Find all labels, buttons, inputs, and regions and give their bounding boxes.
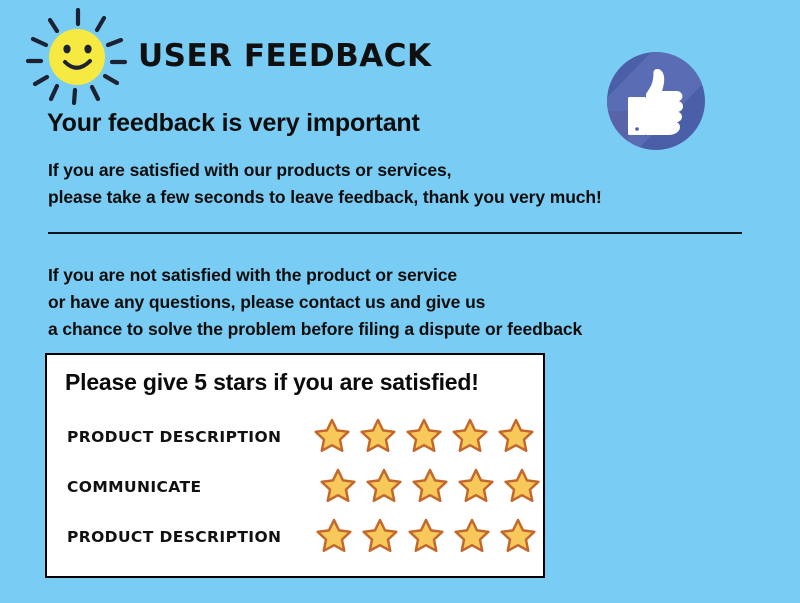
star-icon[interactable] — [457, 467, 495, 505]
satisfied-line-2: please take a few seconds to leave feedb… — [48, 184, 602, 211]
feedback-banner: USER FEEDBACK Your feedback is very impo… — [0, 0, 800, 603]
sun-smiley-icon — [22, 4, 134, 108]
satisfied-paragraph: If you are satisfied with our products o… — [48, 157, 602, 211]
star-icon[interactable] — [315, 517, 353, 555]
star-icon[interactable] — [405, 417, 443, 455]
star-icon[interactable] — [313, 417, 351, 455]
star-icon[interactable] — [453, 517, 491, 555]
not-satisfied-paragraph: If you are not satisfied with the produc… — [48, 262, 582, 343]
rating-label: PRODUCT DESCRIPTION — [67, 428, 281, 446]
star-icon[interactable] — [361, 517, 399, 555]
ratings-card-title: Please give 5 stars if you are satisfied… — [65, 369, 479, 396]
not-satisfied-line-1: If you are not satisfied with the produc… — [48, 262, 582, 289]
star-icon[interactable] — [499, 517, 537, 555]
rating-row: PRODUCT DESCRIPTION — [47, 417, 543, 463]
not-satisfied-line-2: or have any questions, please contact us… — [48, 289, 582, 316]
rating-label: PRODUCT DESCRIPTION — [67, 528, 281, 546]
star-icon[interactable] — [503, 467, 541, 505]
not-satisfied-line-3: a chance to solve the problem before fil… — [48, 316, 582, 343]
star-icon[interactable] — [411, 467, 449, 505]
star-icon[interactable] — [365, 467, 403, 505]
star-icon[interactable] — [407, 517, 445, 555]
page-title: USER FEEDBACK — [138, 38, 432, 74]
rating-label: COMMUNICATE — [67, 478, 201, 496]
thumbs-up-icon — [606, 51, 706, 151]
rating-row: PRODUCT DESCRIPTION — [47, 517, 543, 563]
satisfied-line-1: If you are satisfied with our products o… — [48, 157, 602, 184]
star-icon[interactable] — [451, 417, 489, 455]
star-rating-group[interactable] — [315, 517, 537, 555]
lead-heading: Your feedback is very important — [47, 109, 420, 138]
star-icon[interactable] — [359, 417, 397, 455]
star-rating-group[interactable] — [313, 417, 535, 455]
star-icon[interactable] — [497, 417, 535, 455]
rating-row: COMMUNICATE — [47, 467, 543, 513]
star-icon[interactable] — [319, 467, 357, 505]
section-divider — [48, 232, 742, 234]
ratings-card: Please give 5 stars if you are satisfied… — [45, 353, 545, 578]
star-rating-group[interactable] — [319, 467, 541, 505]
